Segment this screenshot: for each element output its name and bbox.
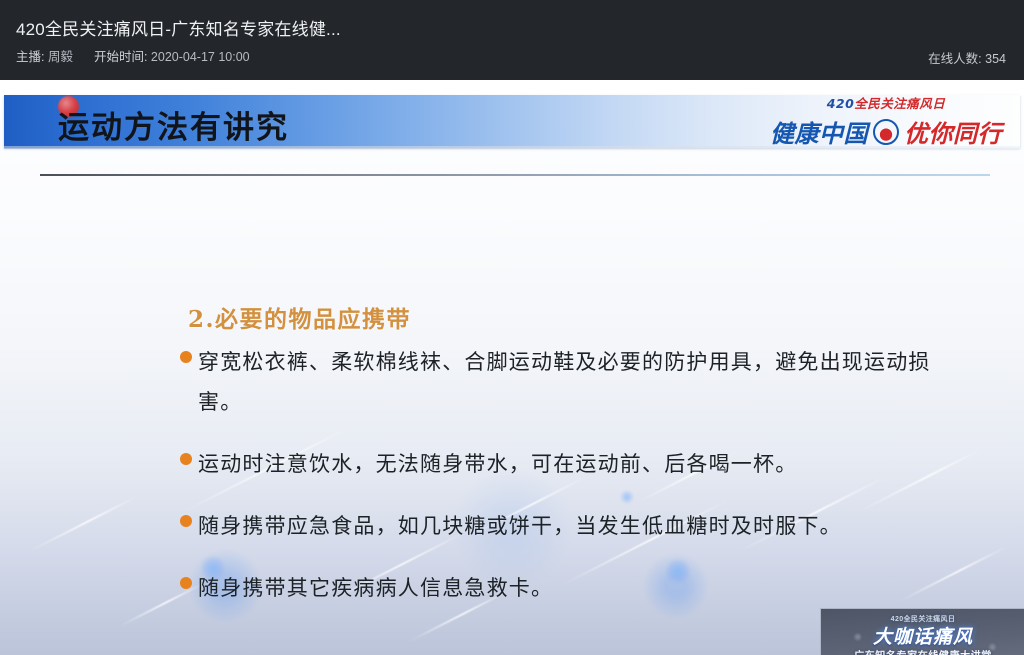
player-header-bar: 420全民关注痛风日-广东知名专家在线健... 主播: 周毅 开始时间: 202… [0,0,1024,80]
bullet-text: 穿宽松衣裤、柔软棉线袜、合脚运动鞋及必要的防护用具，避免出现运动损害。 [198,342,970,422]
viewer-count: 在线人数: 354 [928,48,1006,67]
list-item: 运动时注意饮水，无法随身带水，可在运动前、后各喝一杯。 [180,444,970,484]
bullet-text: 随身携带其它疾病病人信息急救卡。 [198,568,970,608]
bullet-dot-icon [180,577,192,589]
bullet-dot-icon [180,453,192,465]
campaign-logo-line1: 420全民关注痛风日 [770,96,1002,111]
start-time-value: 2020-04-17 10:00 [151,50,250,64]
stage-top-margin [0,80,1024,96]
bullet-dot-icon [180,515,192,527]
slide-divider [40,174,990,176]
bullet-text: 运动时注意饮水，无法随身带水，可在运动前、后各喝一杯。 [198,444,970,484]
picture-in-picture-video[interactable]: 420全民关注痛风日 大咖话痛风 广东知名专家在线健康大讲堂 2020年4月17… [820,608,1024,655]
campaign-logo-right-text: 优你同行 [904,114,1002,149]
viewer-count-value: 354 [985,52,1006,66]
stream-title: 420全民关注痛风日-广东知名专家在线健... [16,15,341,40]
start-time-label: 开始时间: [94,50,147,64]
campaign-logo-tagline: 全民关注痛风日 [854,96,945,111]
stream-meta: 主播: 周毅 开始时间: 2020-04-17 10:00 [16,46,250,65]
bullet-dot-icon [180,351,192,363]
campaign-logo-line2: 健康中国 优你同行 [770,114,1002,149]
bullet-text: 随身携带应急食品，如几块糖或饼干，当发生低血糖时及时服下。 [198,506,970,546]
campaign-logo-number: 420 [827,96,855,111]
host-label: 主播: [16,50,44,64]
slide-title: 运动方法有讲究 [58,102,289,147]
list-item: 随身携带其它疾病病人信息急救卡。 [180,568,970,608]
list-item: 随身携带应急食品，如几块糖或饼干，当发生低血糖时及时服下。 [180,506,970,546]
campaign-logo-left-text: 健康中国 [770,114,868,149]
slide-section-heading: 2.必要的物品应携带 [188,300,411,334]
pip-subtitle-text: 广东知名专家在线健康大讲堂 [821,647,1024,655]
pip-title-text: 大咖话痛风 [821,622,1024,649]
live-player: 420全民关注痛风日-广东知名专家在线健... 主播: 周毅 开始时间: 202… [0,0,1024,655]
host-name: 周毅 [48,50,73,64]
health-china-emblem-icon [873,119,899,145]
slide-bullet-list: 穿宽松衣裤、柔软棉线袜、合脚运动鞋及必要的防护用具，避免出现运动损害。 运动时注… [180,342,970,630]
campaign-logo: 420全民关注痛风日 健康中国 优你同行 [770,96,1002,148]
viewer-count-label: 在线人数: [928,52,981,66]
slide-stage[interactable]: 运动方法有讲究 420全民关注痛风日 健康中国 优你同行 2.必要的物品应携带 … [0,80,1024,655]
list-item: 穿宽松衣裤、柔软棉线袜、合脚运动鞋及必要的防护用具，避免出现运动损害。 [180,342,970,422]
